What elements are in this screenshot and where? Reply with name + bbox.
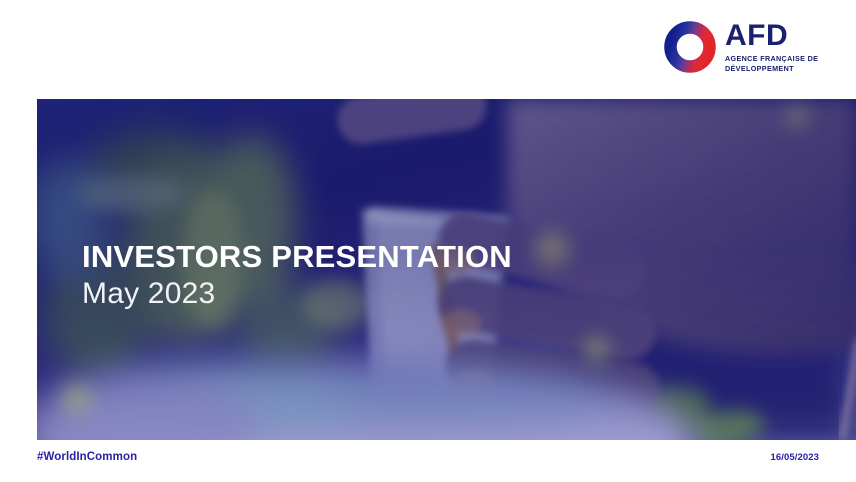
hero-image: INVESTORS PRESENTATION May 2023 [37,99,856,440]
footer-hashtag: #WorldInCommon [37,451,137,463]
presentation-slide: AFD AGENCE FRANÇAISE DE DÉVELOPPEMENT [0,0,856,482]
footer-date: 16/05/2023 [770,452,819,463]
afd-tagline: AGENCE FRANÇAISE DE DÉVELOPPEMENT [725,54,820,72]
afd-acronym: AFD [725,21,820,51]
title-block: INVESTORS PRESENTATION May 2023 [82,240,512,310]
afd-logo: AFD AGENCE FRANÇAISE DE DÉVELOPPEMENT [664,21,820,73]
afd-logo-text: AFD AGENCE FRANÇAISE DE DÉVELOPPEMENT [725,21,820,72]
slide-title: INVESTORS PRESENTATION [82,240,512,273]
afd-ring-icon [664,21,716,73]
slide-subtitle: May 2023 [82,277,512,310]
slide-header: AFD AGENCE FRANÇAISE DE DÉVELOPPEMENT [0,0,856,99]
slide-footer: #WorldInCommon 16/05/2023 [0,440,856,482]
